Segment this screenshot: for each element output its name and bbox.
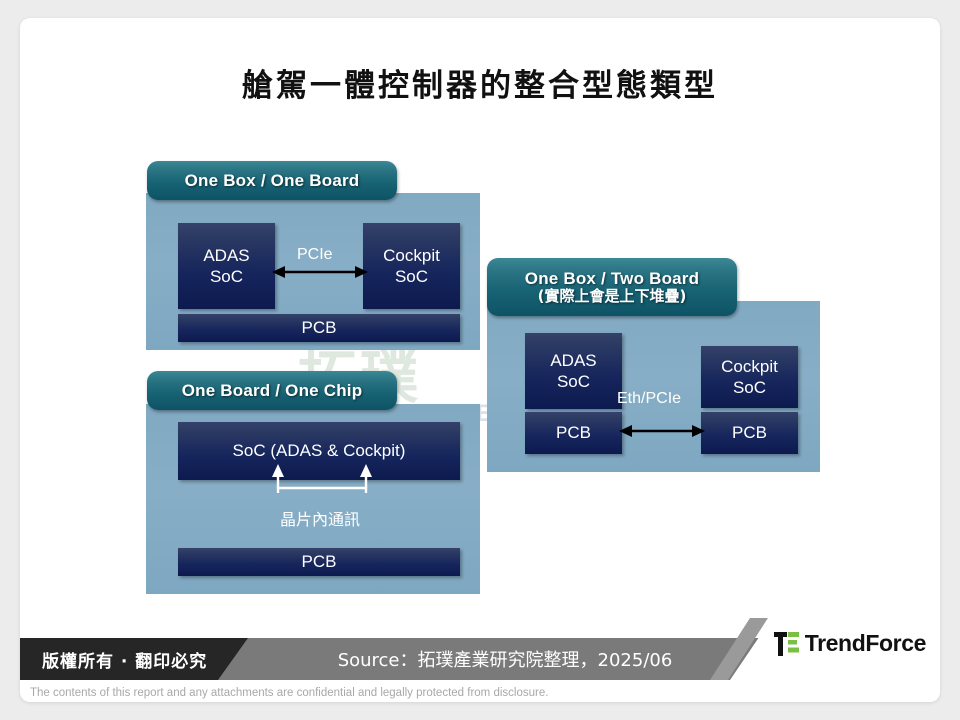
pill-one-box-two-board[interactable]: One Box / Two Board (實際上會是上下堆疊) — [487, 258, 737, 316]
pill-label-line1: One Box / One Board — [185, 171, 360, 191]
pill-label-line2: (實際上會是上下堆疊) — [538, 288, 687, 305]
chip-cockpit-soc-g1: Cockpit SoC — [363, 223, 460, 309]
copyright-text: 版權所有 · 翻印必究 — [42, 647, 207, 672]
chip-cockpit-pcb-g3: PCB — [701, 412, 798, 454]
chip-line1: Cockpit — [721, 356, 778, 377]
chip-line2: SoC — [733, 377, 766, 398]
chip-line1: ADAS — [203, 245, 249, 266]
arrow-pcie — [272, 263, 368, 281]
chip-adas-pcb-g3: PCB — [525, 412, 622, 454]
chip-line1: PCB — [556, 422, 591, 443]
pill-label-line1: One Board / One Chip — [182, 381, 363, 401]
arrow-eth-pcie — [619, 422, 705, 440]
chip-cockpit-soc-g3: Cockpit SoC — [701, 346, 798, 408]
disclaimer-text: The contents of this report and any atta… — [30, 687, 548, 699]
chip-adas-soc-g1: ADAS SoC — [178, 223, 275, 309]
chip-line1: ADAS — [550, 350, 596, 371]
chip-pcb-g2: PCB — [178, 548, 460, 576]
chip-line1: PCB — [302, 317, 337, 338]
chip-adas-soc-g3: ADAS SoC — [525, 333, 622, 409]
source-text: Source：拓璞產業研究院整理，2025/06 — [270, 638, 740, 680]
connector-label-eth-pcie: Eth/PCIe — [617, 390, 681, 408]
trendforce-wordmark: TrendForce — [805, 630, 926, 657]
chip-line2: SoC — [557, 371, 590, 392]
pill-one-board-one-chip[interactable]: One Board / One Chip — [147, 371, 397, 410]
trendforce-mark-icon — [774, 631, 800, 657]
arrow-on-chip-bracket — [269, 462, 375, 502]
chip-line2: SoC — [395, 266, 428, 287]
chip-line1: PCB — [732, 422, 767, 443]
footer: 版權所有 · 翻印必究 Source：拓璞產業研究院整理，2025/06 Tre… — [20, 618, 940, 702]
chip-line1: SoC (ADAS & Cockpit) — [233, 440, 406, 461]
pill-one-box-one-board[interactable]: One Box / One Board — [147, 161, 397, 200]
pill-label-line1: One Box / Two Board — [525, 269, 699, 289]
chip-line1: PCB — [302, 551, 337, 572]
page-title: 艙駕一體控制器的整合型態類型 — [20, 60, 940, 105]
slide-card: 拓璞 TRI TOPOLOGY RESEARCH INSTITUTE 艙駕一體控… — [20, 18, 940, 702]
connector-label-on-chip: 晶片內通訊 — [280, 506, 360, 530]
chip-pcb-g1: PCB — [178, 314, 460, 342]
connector-label-pcie: PCIe — [297, 246, 333, 264]
chip-line2: SoC — [210, 266, 243, 287]
chip-line1: Cockpit — [383, 245, 440, 266]
diagram-area: One Box / One Board ADAS SoC Cockpit SoC… — [20, 18, 940, 702]
